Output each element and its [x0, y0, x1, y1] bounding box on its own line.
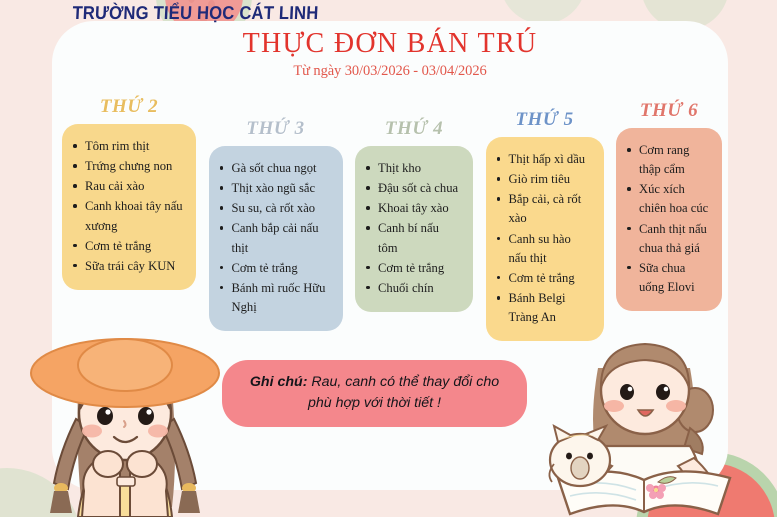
page-title: THỰC ĐƠN BÁN TRÚ	[52, 27, 728, 60]
dish-item: Bánh Belgi Tràng An	[496, 289, 592, 327]
dish-item: Đậu sốt cà chua	[365, 179, 461, 198]
dish-item: Trứng chưng non	[72, 157, 184, 176]
dish-item: Giò rim tiêu	[496, 170, 592, 189]
dish-item: Su su, cà rốt xào	[219, 199, 331, 218]
girl-reading-book-with-cat-icon	[540, 328, 755, 517]
day-column-thu-4: THỨ 4 Thịt kho Đậu sốt cà chua Khoai tây…	[355, 118, 473, 312]
menu-poster: TRƯỜNG TIỂU HỌC CÁT LINH THỰC ĐƠN BÁN TR…	[0, 0, 777, 517]
dish-item: Sữa chua uống Elovi	[626, 259, 710, 297]
dish-list: Thịt kho Đậu sốt cà chua Khoai tây xào C…	[365, 159, 461, 298]
dish-item: Sữa trái cây KUN	[72, 257, 184, 276]
day-card: Tôm rim thịt Trứng chưng non Rau cải xào…	[62, 124, 196, 290]
day-card: Thịt kho Đậu sốt cà chua Khoai tây xào C…	[355, 146, 473, 312]
school-name: TRƯỜNG TIỂU HỌC CÁT LINH	[72, 2, 319, 24]
date-range: Từ ngày 30/03/2026 - 03/04/2026	[52, 63, 728, 80]
dish-list: Gà sốt chua ngọt Thịt xào ngũ sắc Su su,…	[219, 159, 331, 317]
day-column-thu-2: THỨ 2 Tôm rim thịt Trứng chưng non Rau c…	[62, 96, 196, 290]
dish-item: Rau cải xào	[72, 177, 184, 196]
day-label: THỨ 6	[640, 100, 698, 122]
dish-item: Cơm rang thập cẩm	[626, 141, 710, 179]
note-box: Ghi chú: Rau, canh có thể thay đổi cho p…	[222, 360, 527, 427]
note-label: Ghi chú:	[250, 374, 308, 390]
day-label: THỨ 4	[385, 118, 443, 140]
title-block: THỰC ĐƠN BÁN TRÚ Từ ngày 30/03/2026 - 03…	[52, 27, 728, 80]
weekday-columns: THỨ 2 Tôm rim thịt Trứng chưng non Rau c…	[62, 96, 722, 341]
dish-item: Cơm tẻ trắng	[72, 237, 184, 256]
dish-item: Bắp cải, cà rốt xào	[496, 190, 592, 228]
dish-item: Thịt xào ngũ sắc	[219, 179, 331, 198]
girl-with-sunhat-icon	[20, 331, 225, 517]
dish-item: Canh bắp cải nấu thịt	[219, 219, 331, 257]
dish-item: Thịt hấp xì dầu	[496, 150, 592, 169]
dish-item: Cơm tẻ trắng	[365, 259, 461, 278]
dish-list: Thịt hấp xì dầu Giò rim tiêu Bắp cải, cà…	[496, 150, 592, 327]
dish-item: Khoai tây xào	[365, 199, 461, 218]
dish-item: Thịt kho	[365, 159, 461, 178]
day-column-thu-3: THỨ 3 Gà sốt chua ngọt Thịt xào ngũ sắc …	[209, 118, 343, 331]
dish-item: Canh khoai tây nấu xương	[72, 197, 184, 235]
dish-item: Canh su hào nấu thịt	[496, 230, 592, 268]
dish-item: Bánh mì ruốc Hữu Nghị	[219, 279, 331, 317]
day-column-thu-6: THỨ 6 Cơm rang thập cẩm Xúc xích chiên h…	[616, 100, 722, 311]
dish-item: Gà sốt chua ngọt	[219, 159, 331, 178]
dish-item: Xúc xích chiên hoa cúc	[626, 180, 710, 218]
day-label: THỨ 5	[515, 109, 573, 131]
dish-item: Tôm rim thịt	[72, 137, 184, 156]
day-label: THỨ 3	[246, 118, 304, 140]
dish-item: Chuối chín	[365, 279, 461, 298]
day-card: Thịt hấp xì dầu Giò rim tiêu Bắp cải, cà…	[486, 137, 604, 341]
day-label: THỨ 2	[100, 96, 158, 118]
dish-item: Cơm tẻ trắng	[219, 259, 331, 278]
dish-list: Cơm rang thập cẩm Xúc xích chiên hoa cúc…	[626, 141, 710, 297]
day-card: Gà sốt chua ngọt Thịt xào ngũ sắc Su su,…	[209, 146, 343, 331]
dish-item: Canh bí nấu tôm	[365, 219, 461, 257]
dish-item: Canh thịt nấu chua thả giá	[626, 220, 710, 258]
day-card: Cơm rang thập cẩm Xúc xích chiên hoa cúc…	[616, 128, 722, 311]
dish-list: Tôm rim thịt Trứng chưng non Rau cải xào…	[72, 137, 184, 276]
note-body: Rau, canh có thể thay đổi cho phù hợp vớ…	[307, 374, 499, 411]
dish-item: Cơm tẻ trắng	[496, 269, 592, 288]
day-column-thu-5: THỨ 5 Thịt hấp xì dầu Giò rim tiêu Bắp c…	[486, 109, 604, 341]
note-text: Ghi chú: Rau, canh có thể thay đổi cho p…	[240, 372, 509, 413]
